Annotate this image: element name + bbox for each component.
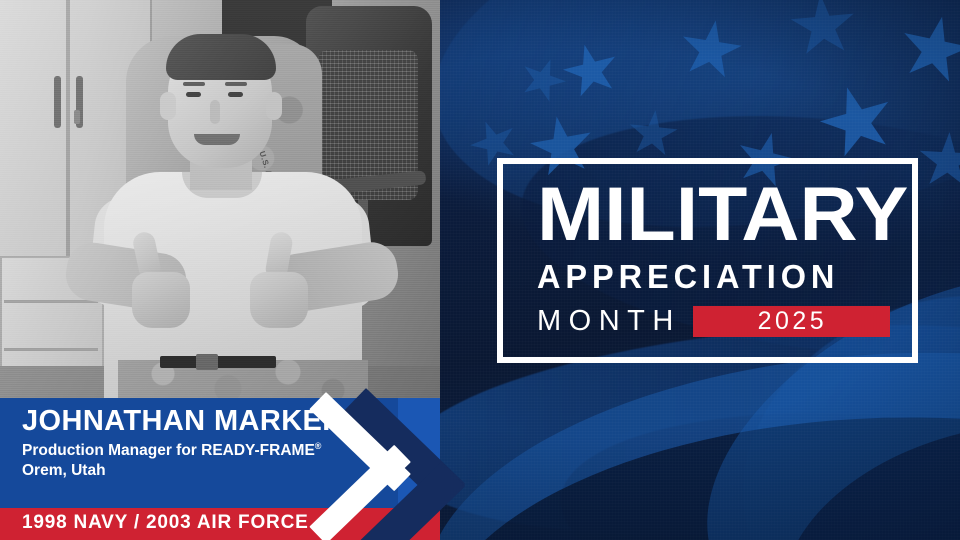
honoree-role: Production Manager for READY-FRAME® [22, 441, 382, 462]
logo-lockup: MILITARY APPRECIATION MONTH 2025 [497, 158, 918, 363]
logo-line-appreciation: APPRECIATION [537, 260, 885, 293]
honoree-location: Orem, Utah [22, 461, 382, 481]
honoree-name: JOHNATHAN MARKER [22, 406, 382, 437]
registered-trademark-icon: ® [315, 441, 322, 451]
logo-inner: MILITARY APPRECIATION MONTH 2025 [537, 184, 890, 337]
honoree-role-text: Production Manager for READY-FRAME [22, 442, 315, 459]
year-badge: 2025 [693, 306, 890, 337]
honoree-details: JOHNATHAN MARKER Production Manager for … [22, 406, 382, 482]
year-label: 2025 [756, 309, 828, 334]
honoree-service-years: 1998 NAVY / 2003 AIR FORCE [22, 513, 309, 532]
logo-line-military: MILITARY [537, 184, 911, 246]
logo-line-month: MONTH [537, 306, 693, 337]
logo-month-row: MONTH 2025 [537, 306, 890, 337]
spotlight-graphic: U.S. AIR FORCE [0, 0, 960, 540]
